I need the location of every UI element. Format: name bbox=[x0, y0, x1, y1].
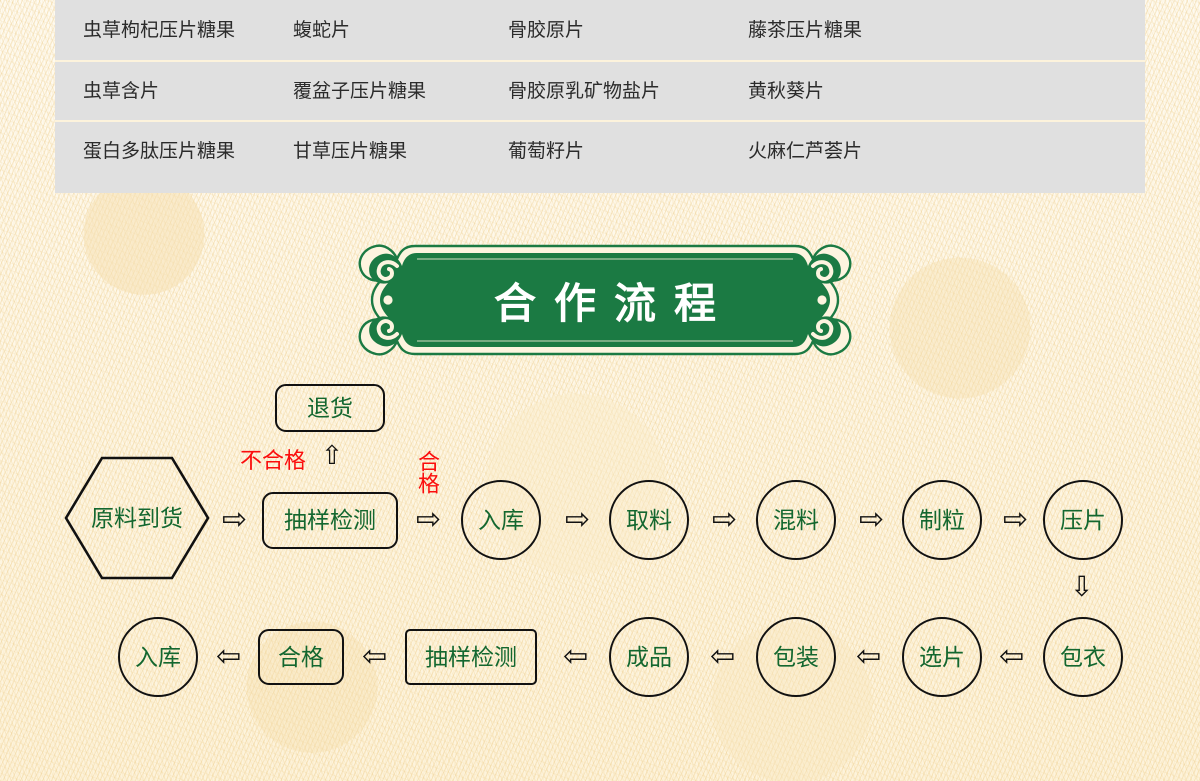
table-cell: 蛋白多肽压片糖果 bbox=[83, 142, 293, 161]
flow-node-select-tablet[interactable]: 选片 bbox=[902, 617, 982, 697]
table-row: 虫草含片 覆盆子压片糖果 骨胶原乳矿物盐片 黄秋葵片 bbox=[55, 60, 1145, 120]
table-cell: 蝮蛇片 bbox=[293, 21, 508, 40]
flow-node-sampling-inspection-2[interactable]: 抽样检测 bbox=[405, 629, 537, 685]
flow-arrow-left-icon: ⇦ bbox=[362, 642, 387, 672]
flow-arrow-right-icon: ⇨ bbox=[1003, 505, 1028, 535]
table-cell: 甘草压片糖果 bbox=[293, 142, 508, 161]
flow-arrow-right-icon: ⇨ bbox=[416, 505, 441, 535]
flow-node-label: 退货 bbox=[307, 397, 353, 420]
flow-arrow-left-icon: ⇦ bbox=[856, 642, 881, 672]
table-row: 虫草枸杞压片糖果 蝮蛇片 骨胶原片 藤茶压片糖果 bbox=[55, 0, 1145, 60]
flow-node-label: 原料到货 bbox=[63, 455, 211, 581]
table-cell: 黄秋葵片 bbox=[748, 82, 988, 101]
flow-node-granulate[interactable]: 制粒 bbox=[902, 480, 982, 560]
flow-arrow-left-icon: ⇦ bbox=[710, 642, 735, 672]
flow-node-label: 抽样检测 bbox=[284, 509, 376, 532]
flow-node-press-tablet[interactable]: 压片 bbox=[1043, 480, 1123, 560]
flow-arrow-left-icon: ⇦ bbox=[563, 642, 588, 672]
table-bottom-spacer bbox=[55, 180, 1145, 192]
flow-label-pass: 合格 bbox=[414, 450, 438, 494]
banner-title: 合作流程 bbox=[355, 240, 855, 360]
flow-node-raw-material-arrival[interactable]: 原料到货 bbox=[63, 455, 211, 581]
flow-node-packaging[interactable]: 包装 bbox=[756, 617, 836, 697]
flow-arrow-left-icon: ⇦ bbox=[999, 642, 1024, 672]
flow-node-sampling-inspection-1[interactable]: 抽样检测 bbox=[262, 492, 398, 549]
flow-node-storage-1[interactable]: 入库 bbox=[461, 480, 541, 560]
flow-arrow-right-icon: ⇨ bbox=[565, 505, 590, 535]
flow-arrow-right-icon: ⇨ bbox=[222, 505, 247, 535]
table-cell: 覆盆子压片糖果 bbox=[293, 82, 508, 101]
flow-node-label: 成品 bbox=[626, 646, 672, 669]
flow-arrow-right-icon: ⇨ bbox=[859, 505, 884, 535]
table-cell: 藤茶压片糖果 bbox=[748, 21, 988, 40]
flow-node-label: 合格 bbox=[278, 646, 324, 669]
flow-arrow-up-icon: ⇧ bbox=[321, 443, 343, 469]
table-cell: 葡萄籽片 bbox=[508, 142, 748, 161]
flow-arrow-right-icon: ⇨ bbox=[712, 505, 737, 535]
table-row: 蛋白多肽压片糖果 甘草压片糖果 葡萄籽片 火麻仁芦荟片 bbox=[55, 120, 1145, 180]
section-banner: 合作流程 bbox=[355, 240, 855, 360]
flow-node-coating[interactable]: 包衣 bbox=[1043, 617, 1123, 697]
product-table: 虫草枸杞压片糖果 蝮蛇片 骨胶原片 藤茶压片糖果 虫草含片 覆盆子压片糖果 骨胶… bbox=[55, 0, 1145, 193]
flow-node-qualified[interactable]: 合格 bbox=[258, 629, 344, 685]
flow-node-storage-2[interactable]: 入库 bbox=[118, 617, 198, 697]
flow-node-label: 混料 bbox=[773, 509, 819, 532]
flow-node-label: 取料 bbox=[626, 509, 672, 532]
flow-node-take-material[interactable]: 取料 bbox=[609, 480, 689, 560]
flow-node-label: 包衣 bbox=[1060, 646, 1106, 669]
flow-node-label: 压片 bbox=[1060, 509, 1106, 532]
flow-arrow-left-icon: ⇦ bbox=[216, 642, 241, 672]
flow-node-label: 选片 bbox=[919, 646, 965, 669]
flow-node-finished-product[interactable]: 成品 bbox=[609, 617, 689, 697]
table-cell: 虫草含片 bbox=[83, 82, 293, 101]
table-cell: 骨胶原乳矿物盐片 bbox=[508, 82, 748, 101]
flow-node-label: 制粒 bbox=[919, 509, 965, 532]
flow-node-return[interactable]: 退货 bbox=[275, 384, 385, 432]
flow-label-reject: 不合格 bbox=[240, 450, 306, 472]
flow-node-label: 包装 bbox=[773, 646, 819, 669]
flow-arrow-down-icon: ⇩ bbox=[1070, 573, 1093, 601]
flow-node-label: 入库 bbox=[478, 509, 524, 532]
flow-node-label: 入库 bbox=[135, 646, 181, 669]
table-cell: 骨胶原片 bbox=[508, 21, 748, 40]
table-cell: 虫草枸杞压片糖果 bbox=[83, 21, 293, 40]
table-cell: 火麻仁芦荟片 bbox=[748, 142, 988, 161]
flow-node-mix[interactable]: 混料 bbox=[756, 480, 836, 560]
flow-node-label: 抽样检测 bbox=[425, 646, 517, 669]
